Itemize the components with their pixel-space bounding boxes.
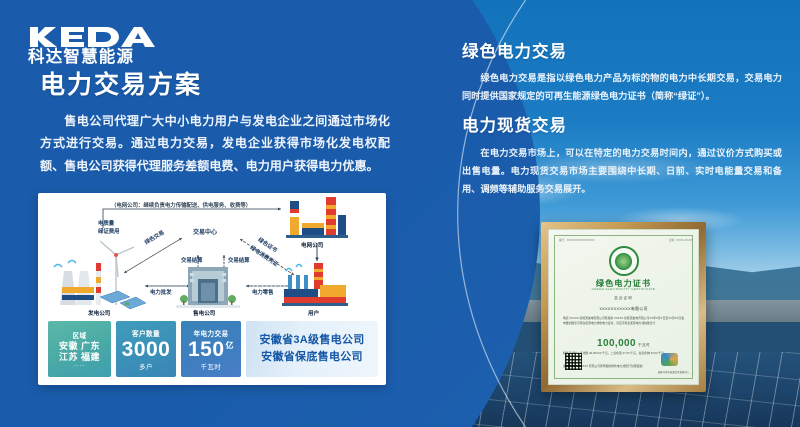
qualification-line-1: 安徽省3A级售电公司	[259, 332, 364, 349]
certificate-emblem-core	[615, 253, 632, 270]
stat-customers-caption: 客户数量	[132, 328, 160, 338]
stat-card-region: 区域 安徽 广东 江苏 福建 ……	[48, 321, 111, 377]
diagram-settlement-left: 交易结算	[181, 258, 203, 265]
diagram-node-grid: 电网公司	[301, 241, 323, 249]
poster-root: 科达智慧能源 电力交易方案 售电公司代理广大中小电力用户与发电企业之间通过市场化…	[0, 0, 800, 427]
spot-trading-paragraph: 在电力交易市场上，可以在特定的电力交易时间内，通过议价方式购买或出售电量。电力现…	[462, 145, 782, 199]
keda-wordmark-icon	[28, 26, 156, 48]
certificate-frame: 编号：XXXXXXXXXXXXXXXX 日期：XXXX-XX-XX 绿色电力证书…	[541, 222, 706, 392]
diagram-fee-line-2: 绿证费用	[98, 229, 120, 236]
stat-region-more: ……	[74, 362, 86, 368]
intro-paragraph: 售电公司代理广大中小电力用户与发电企业之间通过市场化方式进行交易。通过电力交易，…	[40, 110, 390, 177]
region-item-guangdong: 广东	[81, 341, 100, 351]
stat-customers-unit: 多户	[139, 362, 153, 371]
certificate-amount-unit: 千瓦时	[638, 343, 650, 347]
stat-card-volume: 年电力交易 150亿 千瓦时	[181, 321, 241, 377]
green-trading-paragraph: 绿色电力交易是指以绿色电力产品为标的物的电力中长期交易，交易电力同时提供国家规定…	[462, 70, 782, 106]
diagram-graphics	[38, 193, 386, 323]
certificate-qr-code	[565, 353, 582, 370]
power-trading-diagram: （电网公司：继续负责电力传输配送、供电服务、收费等） 电质量 绿证费用 绿色交易…	[38, 193, 386, 323]
diagram-center-title: 交易中心	[193, 230, 217, 238]
stat-volume-value: 150	[188, 338, 225, 361]
certificate-company: XXXXXXXXXXX有限公司	[549, 306, 698, 312]
page-title: 电力交易方案	[40, 73, 202, 98]
diagram-card: （电网公司：继续负责电力传输配送、供电服务、收费等） 电质量 绿证费用 绿色交易…	[38, 193, 386, 385]
spot-trading-heading: 电力现货交易	[462, 118, 782, 135]
certificate-serial: 编号：XXXXXXXXXXXXXXXX	[559, 238, 594, 242]
diagram-settlement-right: 交易结算	[228, 258, 250, 265]
stat-volume-unit: 千瓦时	[201, 362, 222, 371]
certificate-issuer-logo-icon	[661, 353, 678, 366]
diagram-wholesale-label: 电力批发	[150, 290, 172, 297]
region-item-jiangsu: 江苏	[59, 352, 78, 362]
certificate-paper: 编号：XXXXXXXXXXXXXXXX 日期：XXXX-XX-XX 绿色电力证书…	[548, 229, 699, 385]
stat-card-customers: 客户数量 3000 多户	[116, 321, 176, 377]
certificate-emblem-icon	[609, 246, 639, 276]
certificate-subtitle: 兹此证明	[549, 296, 698, 301]
brand-logo: 科达智慧能源	[28, 26, 156, 66]
stat-card-qualifications: KEDA 安徽省3A级售电公司 安徽省保底售电公司	[246, 321, 378, 377]
stat-customers-value: 3000	[122, 339, 171, 360]
certificate-body-text: 购买 XXXXX 新能源发电有限公司所属的 XXXXX 新能源发电有限公司XX年…	[563, 316, 684, 326]
certificate-title-en: GREEN ELECTRICITY CERTIFICATE	[549, 287, 698, 291]
green-certificate: 编号：XXXXXXXXXXXXXXXX 日期：XXXX-XX-XX 绿色电力证书…	[541, 222, 706, 392]
diagram-node-generator: 发电公司	[88, 309, 110, 317]
stat-volume-value-unit: 亿	[226, 341, 235, 350]
stats-strip: 区域 安徽 广东 江苏 福建 …… 客户数量 3000 多户 年电力交易 150…	[48, 321, 378, 377]
diagram-fee-line-1: 电质量	[98, 221, 114, 228]
green-trading-heading: 绿色电力交易	[462, 44, 782, 61]
stat-region-caption: 区域	[73, 330, 87, 340]
diagram-node-retailer: 售电公司	[193, 309, 215, 317]
certificate-top-notes: 编号：XXXXXXXXXXXXXXXX 日期：XXXX-XX-XX	[559, 238, 692, 242]
qualification-line-2: 安徽省保底售电公司	[259, 349, 364, 366]
diagram-node-user: 用户	[308, 309, 319, 317]
diagram-top-note: （电网公司：继续负责电力传输配送、供电服务、收费等）	[111, 203, 251, 210]
region-item-fujian: 福建	[81, 352, 100, 362]
certificate-issuer-name: 国家可再生能源信息管理中心	[658, 370, 689, 374]
diagram-retail-label: 电力零售	[252, 290, 274, 297]
stat-volume-caption: 年电力交易	[194, 328, 229, 338]
region-item-anhui: 安徽	[59, 341, 78, 351]
certificate-date: 日期：XXXX-XX-XX	[669, 238, 692, 242]
certificate-amount: 100,000	[597, 338, 636, 349]
brand-logo-cn: 科达智慧能源	[28, 49, 156, 66]
